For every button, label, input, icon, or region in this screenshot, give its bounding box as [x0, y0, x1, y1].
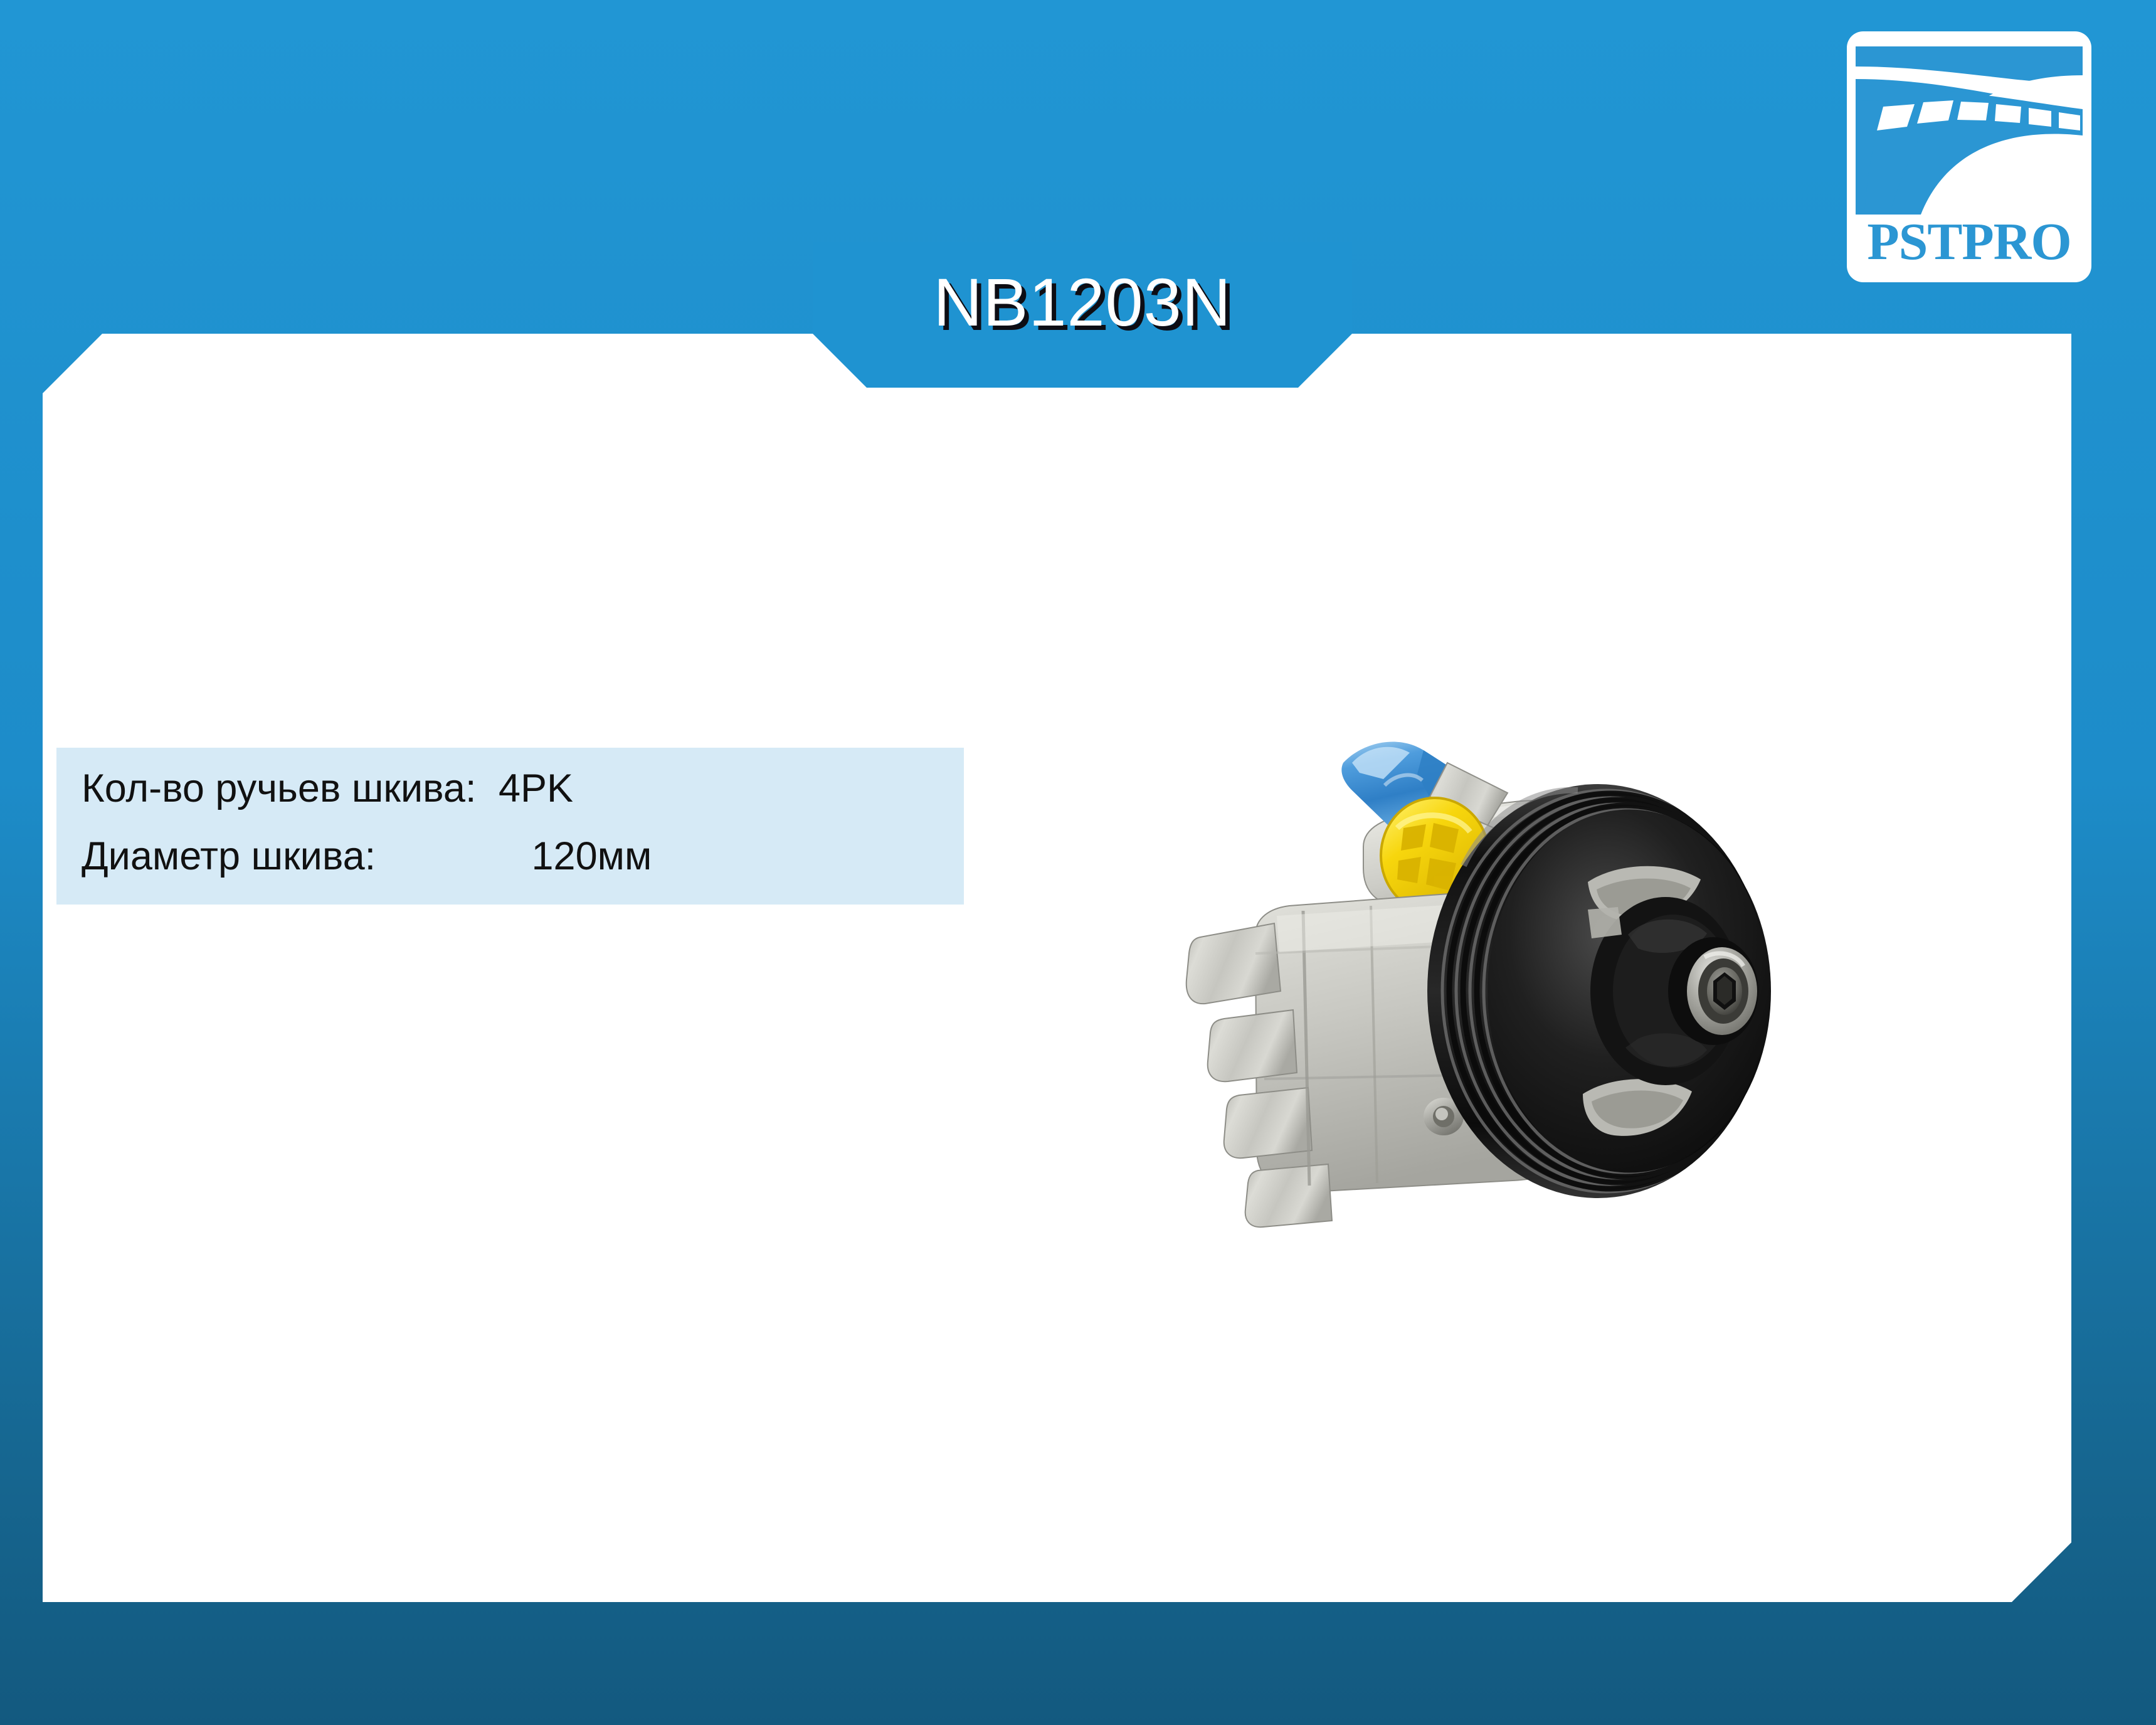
spec-label: Кол-во ручьев шкива: — [82, 767, 476, 810]
spec-value: 120мм — [532, 834, 652, 878]
black-ribbed-pulley — [1427, 784, 1775, 1198]
specifications-box: Кол-во ручьев шкива: 4PK Диаметр шкива: … — [56, 748, 964, 905]
spec-row: Диаметр шкива: 120мм — [82, 834, 652, 878]
spec-row: Кол-во ручьев шкива: 4PK — [82, 767, 573, 810]
mounting-ear — [1186, 923, 1281, 1004]
brand-wordmark: PSTPRO — [1847, 211, 2091, 273]
part-number-title: NB1203N — [813, 242, 1352, 363]
product-image — [1164, 640, 1829, 1255]
brand-logo: PSTPRO — [1847, 31, 2091, 282]
road-highway-icon — [1847, 31, 2091, 215]
product-card-page: NB1203N — [0, 0, 2156, 1725]
part-number-banner: NB1203N — [813, 242, 1352, 388]
spec-label: Диаметр шкива: — [82, 834, 521, 878]
spec-value: 4PK — [499, 767, 573, 810]
